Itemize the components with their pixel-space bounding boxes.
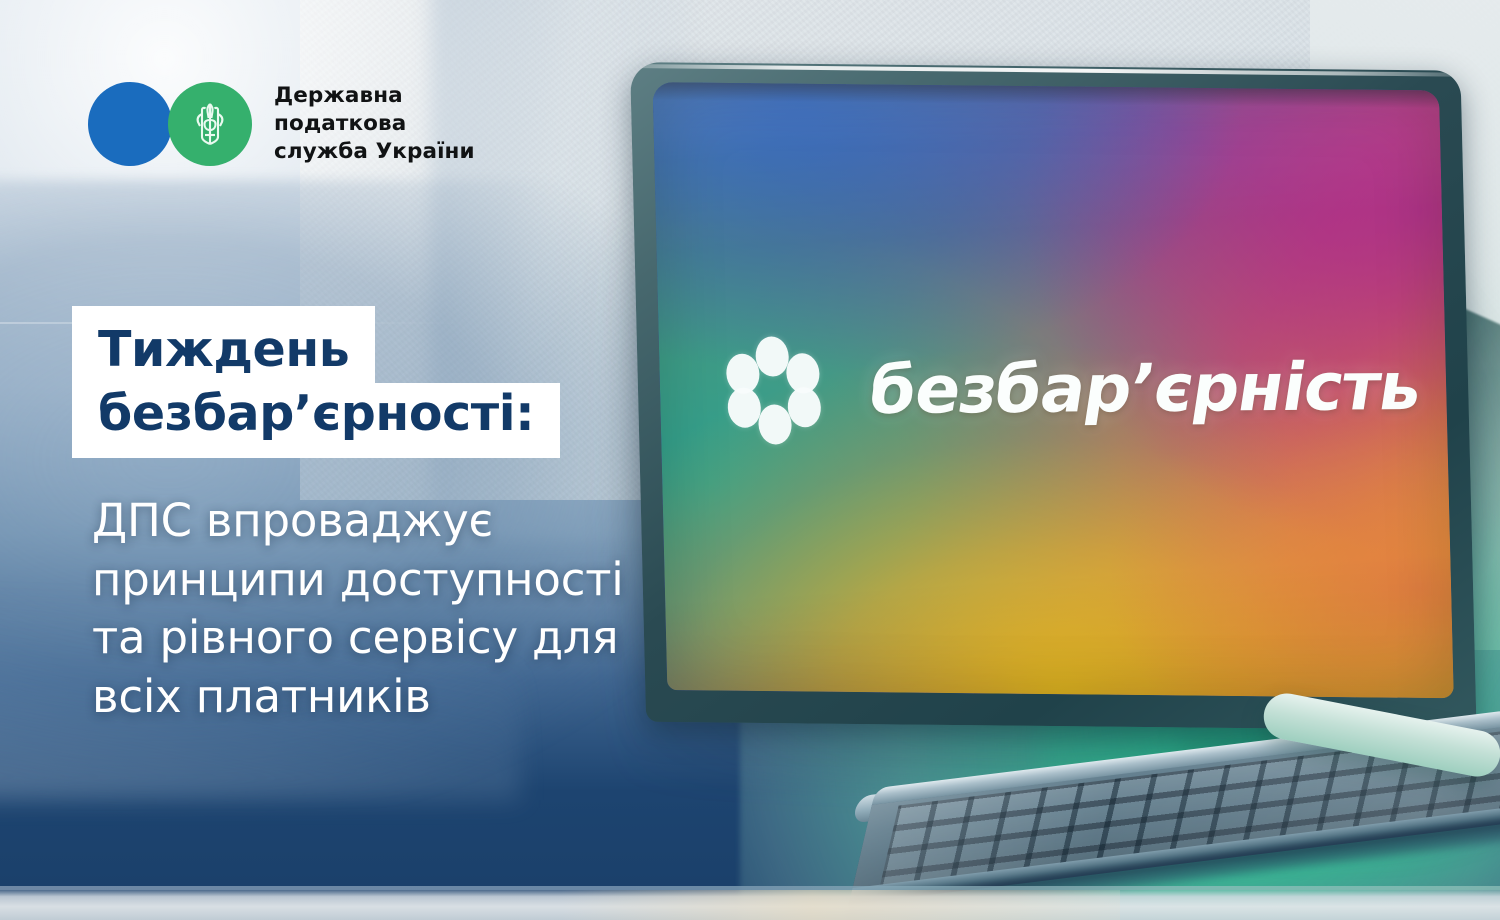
dps-logo-text: Державна податкова служба України [274,82,475,166]
ukraine-trident-icon [190,100,230,148]
subtitle-line-4: всіх платників [92,668,892,727]
subtitle-line-1: ДПС впроваджує [92,492,892,551]
subtitle-text: ДПС впроваджує принципи доступності та р… [92,492,892,726]
dps-logo-text-line-1: Державна [274,82,475,110]
dps-logo-text-line-3: служба України [274,138,475,166]
subtitle-line-2: принципи доступності [92,551,892,610]
desk-front-warm-light [560,890,1120,920]
headline-row-2: безбар’єрності: [72,383,692,458]
logo-blue-dot [88,82,172,166]
poster-canvas: безбар’єрність [0,0,1500,920]
subtitle-line-3: та рівного сервісу для [92,609,892,668]
page-title: Тиждень безбар’єрності: [72,306,692,458]
bezbarjernist-lockup: безбар’єрність [720,334,1421,443]
dps-logo-text-line-2: податкова [274,110,475,138]
headline-line-1: Тиждень [72,306,375,383]
headline-line-2: безбар’єрності: [72,383,560,458]
dps-logo: Державна податкова служба України [88,82,475,166]
bezbarjernist-wordmark: безбар’єрність [868,348,1420,429]
six-petal-flower-icon [720,338,828,443]
logo-green-dot [168,82,252,166]
headline-row-1: Тиждень [72,306,692,383]
